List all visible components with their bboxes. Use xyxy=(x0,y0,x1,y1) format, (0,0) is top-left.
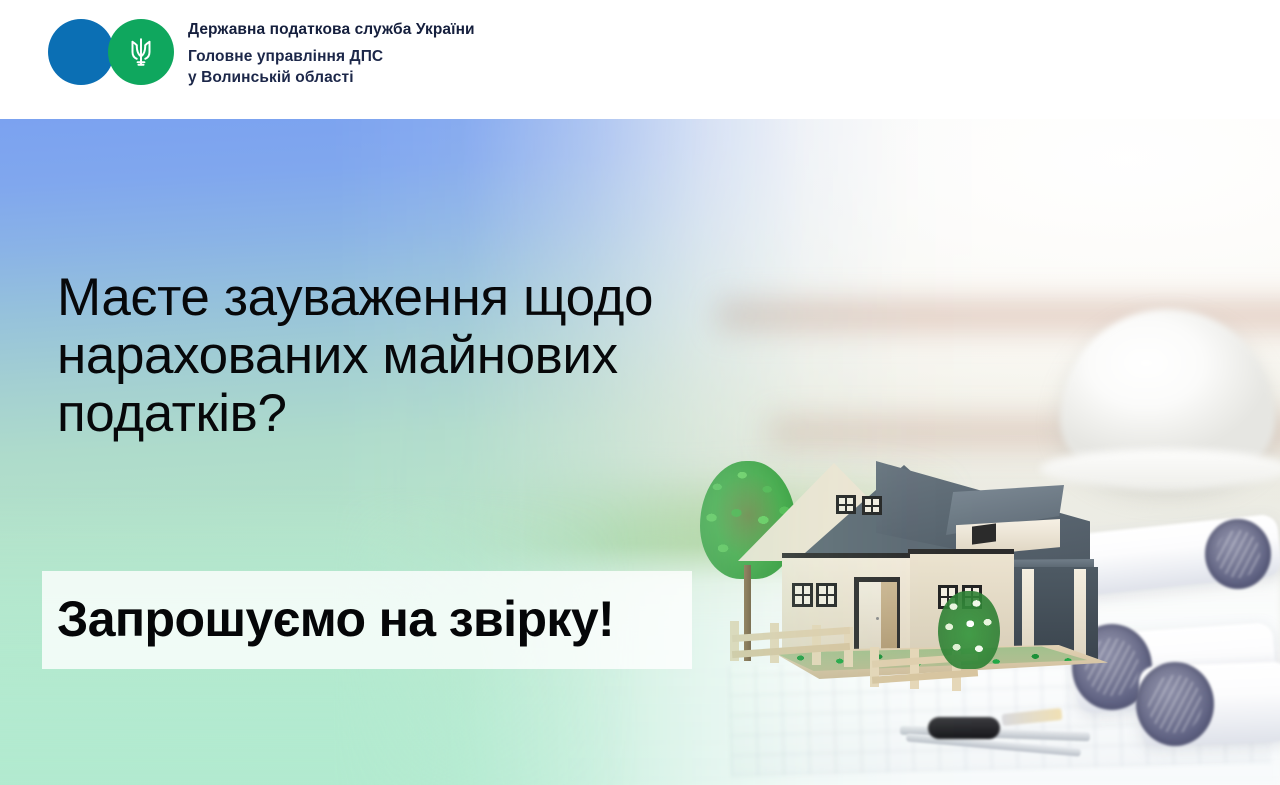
cta-band: Запрошуємо на звірку! xyxy=(42,571,692,669)
headline-line-3: податків? xyxy=(57,385,757,443)
site-header: Державна податкова служба України Головн… xyxy=(0,0,1280,119)
banner-page: Державна податкова служба України Головн… xyxy=(0,0,1280,785)
header-inner: Державна податкова служба України Головн… xyxy=(48,19,475,88)
agency-name: Державна податкова служба України xyxy=(188,20,475,40)
logo[interactable] xyxy=(48,19,174,85)
headline: Маєте зауваження щодо нарахованих майнов… xyxy=(57,269,757,443)
header-text-block: Державна податкова служба України Головн… xyxy=(188,19,475,88)
tryzub-icon xyxy=(127,35,155,69)
department-name: Головне управління ДПС xyxy=(188,46,475,67)
headline-line-1: Маєте зауваження щодо xyxy=(57,269,757,327)
blue-circle-icon xyxy=(48,19,114,85)
cta-text: Запрошуємо на звірку! xyxy=(57,589,614,649)
hero-banner: Маєте зауваження щодо нарахованих майнов… xyxy=(0,119,1280,785)
region-name: у Волинській області xyxy=(188,67,475,88)
headline-block: Маєте зауваження щодо нарахованих майнов… xyxy=(57,269,757,443)
headline-line-2: нарахованих майнових xyxy=(57,327,757,385)
green-circle-icon xyxy=(108,19,174,85)
